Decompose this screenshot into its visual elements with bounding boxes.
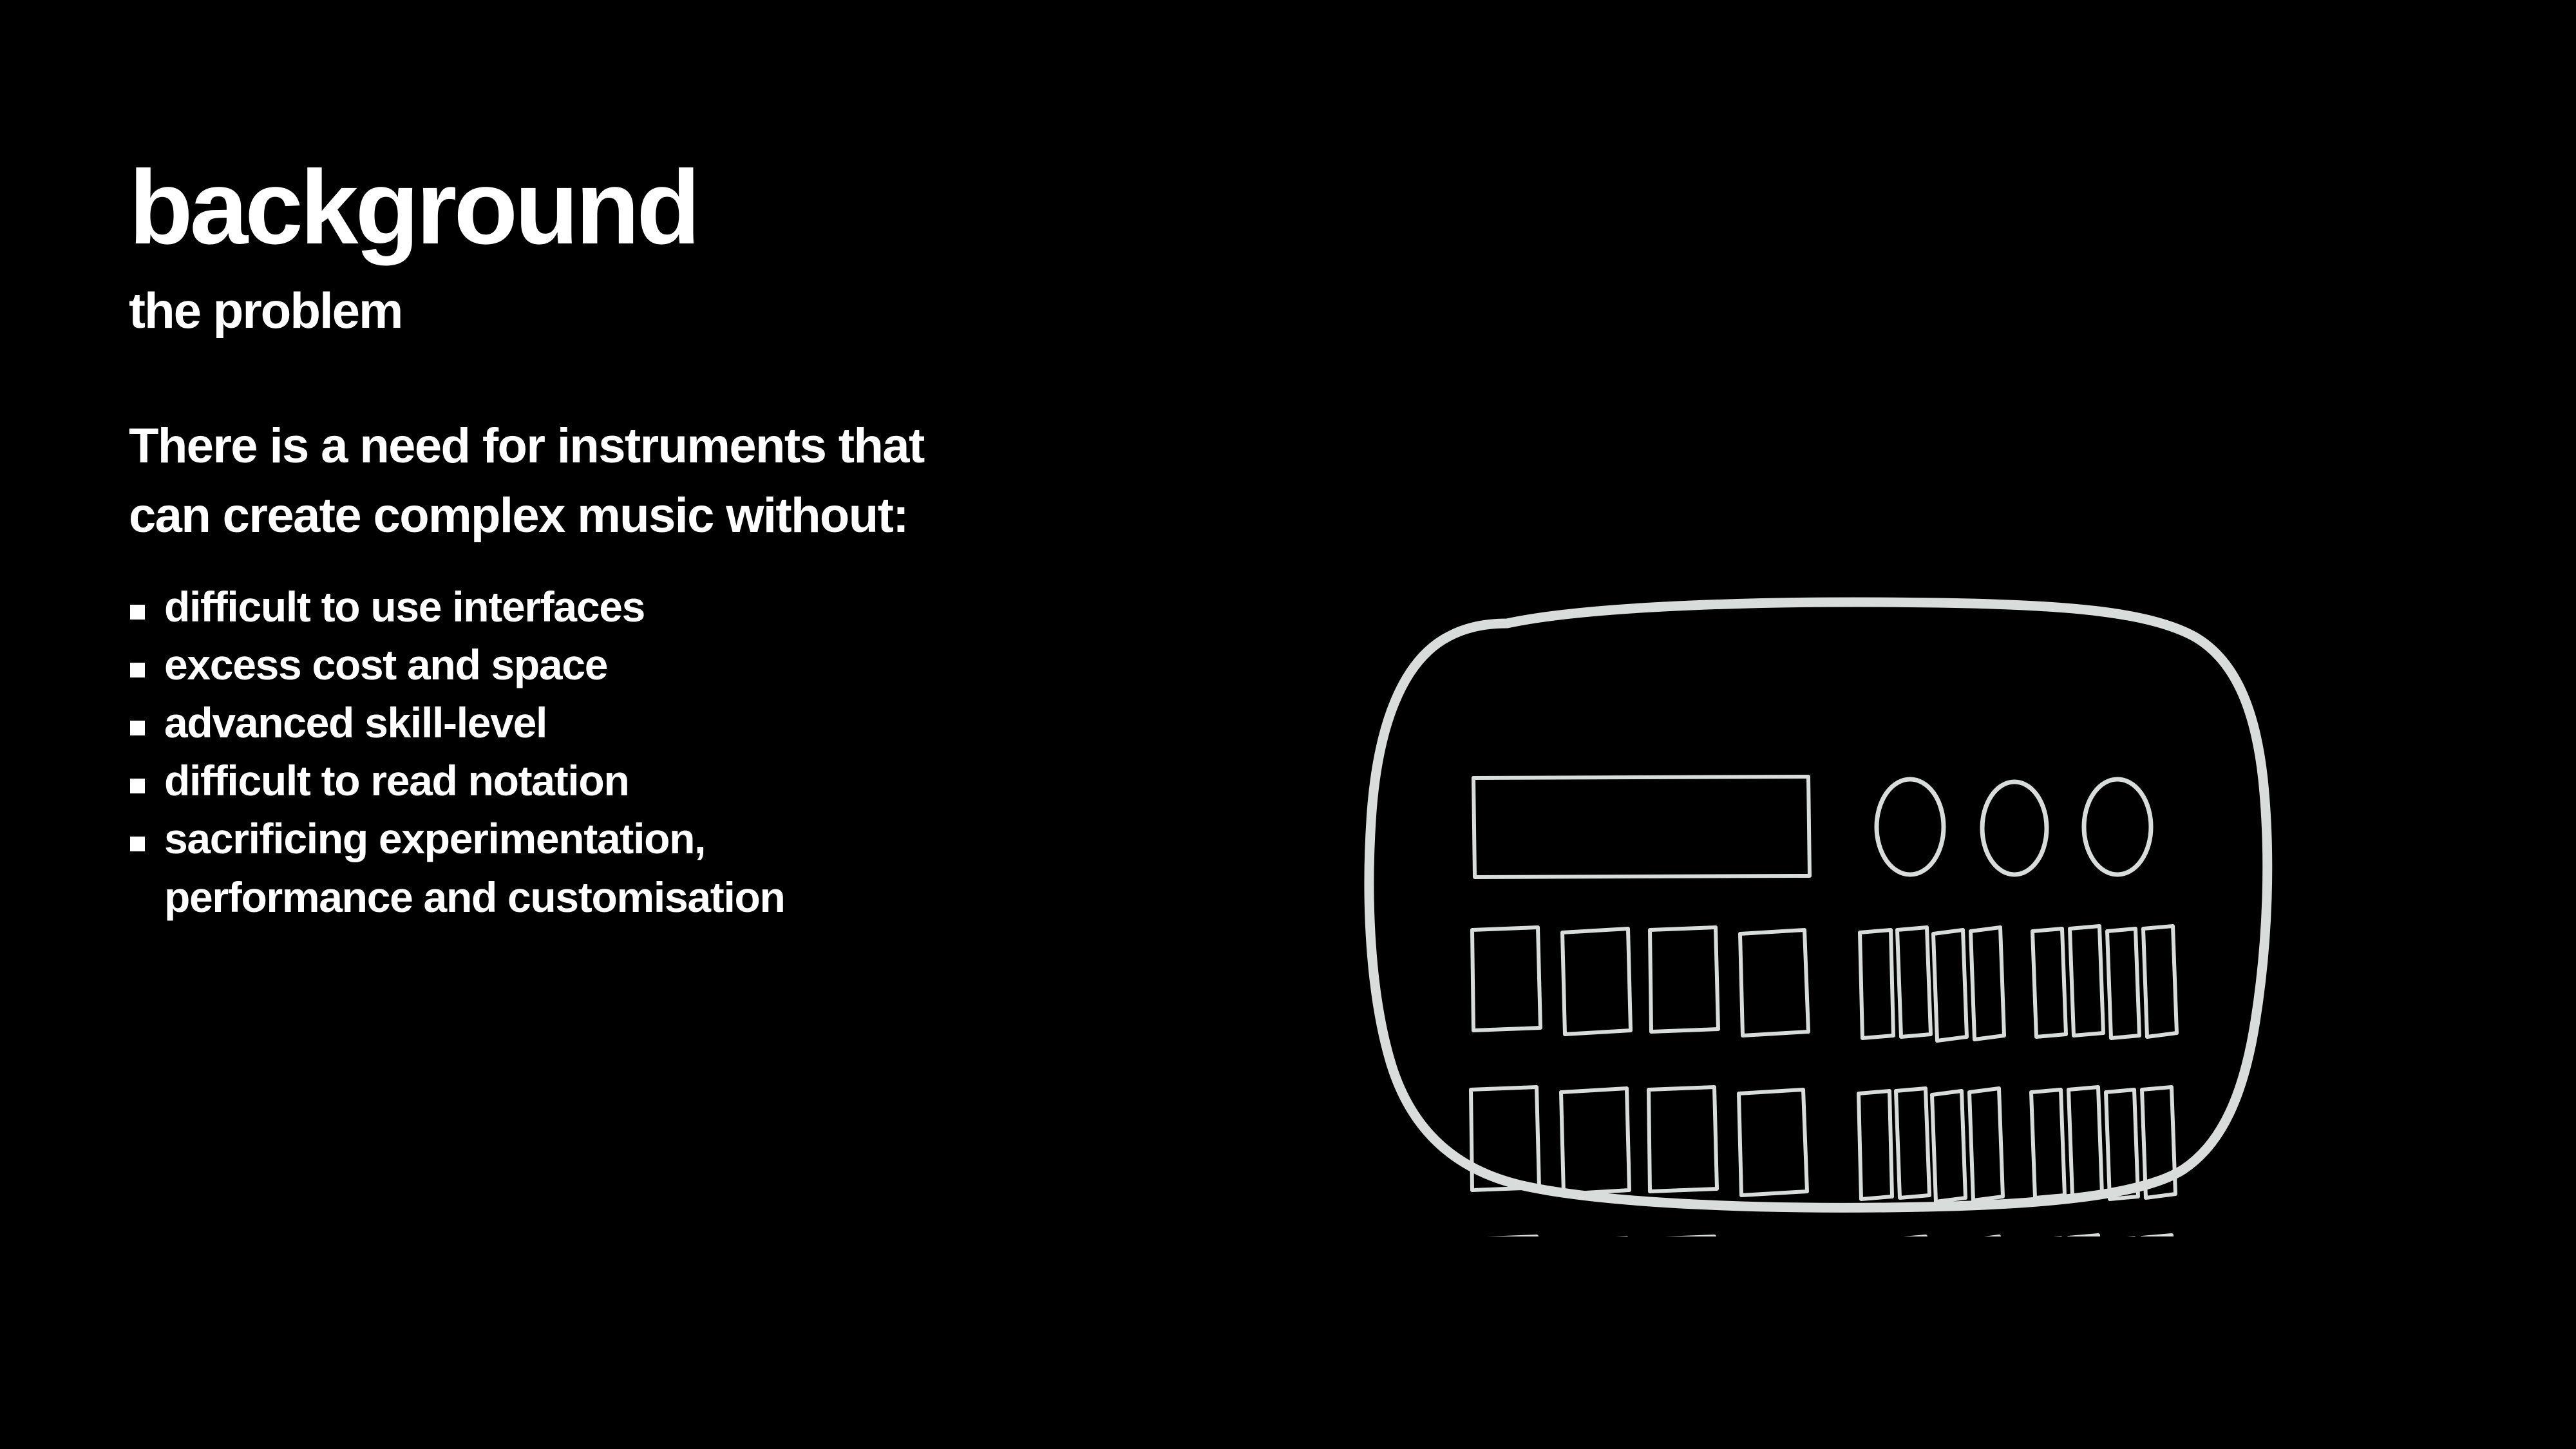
device-slider-r1b4 bbox=[2143, 926, 2177, 1037]
list-item-continuation: performance and customisation bbox=[129, 871, 1352, 924]
device-pad-r2c3 bbox=[1649, 1087, 1717, 1191]
device-body-outline bbox=[1369, 602, 2268, 1207]
device-slider-r1a2 bbox=[1897, 927, 1931, 1037]
device-slider-r1a1 bbox=[1860, 930, 1893, 1038]
list-item: difficult to use interfaces bbox=[129, 580, 1352, 634]
intro-line-2: can create complex music without: bbox=[129, 481, 1352, 551]
square-bullet-icon bbox=[130, 837, 145, 851]
page-title: background bbox=[129, 155, 1352, 260]
device-slider-r2a2 bbox=[1896, 1088, 1929, 1198]
device-slider-r2a3 bbox=[1932, 1091, 1965, 1202]
device-pad-r1c2 bbox=[1562, 929, 1631, 1034]
intro-line-1: There is a need for instruments that bbox=[129, 412, 1352, 481]
device-knob-2 bbox=[1982, 782, 2047, 875]
list-item-label: excess cost and space bbox=[164, 641, 607, 688]
device-sketch-svg bbox=[1320, 541, 2454, 1236]
device-pad-r2c4 bbox=[1739, 1090, 1807, 1195]
problem-bullet-list: difficult to use interfaces excess cost … bbox=[129, 580, 1352, 924]
square-bullet-icon bbox=[130, 779, 145, 793]
device-display-outline bbox=[1473, 777, 1810, 877]
device-slider-r1b3 bbox=[2107, 929, 2139, 1038]
square-bullet-icon bbox=[130, 663, 145, 677]
device-slider-r2b1 bbox=[2031, 1090, 2065, 1198]
device-slider-r2b2 bbox=[2069, 1087, 2102, 1197]
device-sketch-illustration bbox=[1320, 541, 2454, 1236]
list-item-label: advanced skill-level bbox=[164, 699, 547, 746]
device-slider-r3b2 bbox=[2069, 1235, 2102, 1236]
device-knob-1 bbox=[1877, 779, 1944, 875]
device-slider-r2a4 bbox=[1969, 1088, 2003, 1200]
device-slider-r1b1 bbox=[2032, 929, 2066, 1037]
device-slider-r2b3 bbox=[2106, 1090, 2138, 1199]
list-item: sacrificing experimentation, bbox=[129, 812, 1352, 866]
page-subtitle: the problem bbox=[129, 285, 1352, 336]
square-bullet-icon bbox=[130, 721, 145, 735]
list-item: difficult to read notation bbox=[129, 754, 1352, 808]
device-pad-r1c1 bbox=[1472, 927, 1540, 1030]
device-slider-r2a1 bbox=[1859, 1091, 1892, 1199]
device-pad-r1c4 bbox=[1740, 930, 1808, 1036]
device-pad-r1c3 bbox=[1650, 927, 1718, 1032]
device-slider-r1a3 bbox=[1933, 930, 1967, 1041]
device-slider-r1b2 bbox=[2070, 926, 2103, 1036]
device-pad-r2c2 bbox=[1561, 1088, 1629, 1194]
device-knob-3 bbox=[2084, 779, 2151, 875]
list-item-label: difficult to read notation bbox=[164, 757, 629, 804]
intro-paragraph: There is a need for instruments that can… bbox=[129, 412, 1352, 551]
list-item: advanced skill-level bbox=[129, 696, 1352, 750]
text-column: background the problem There is a need f… bbox=[129, 155, 1352, 934]
list-item-label: difficult to use interfaces bbox=[164, 583, 645, 630]
device-slider-r3b4 bbox=[2142, 1235, 2175, 1236]
slide-canvas: background the problem There is a need f… bbox=[0, 0, 2576, 1449]
list-item-label: sacrificing experimentation, bbox=[164, 815, 705, 862]
list-item: excess cost and space bbox=[129, 638, 1352, 692]
square-bullet-icon bbox=[130, 605, 145, 620]
device-slider-r1a4 bbox=[1971, 927, 2004, 1039]
